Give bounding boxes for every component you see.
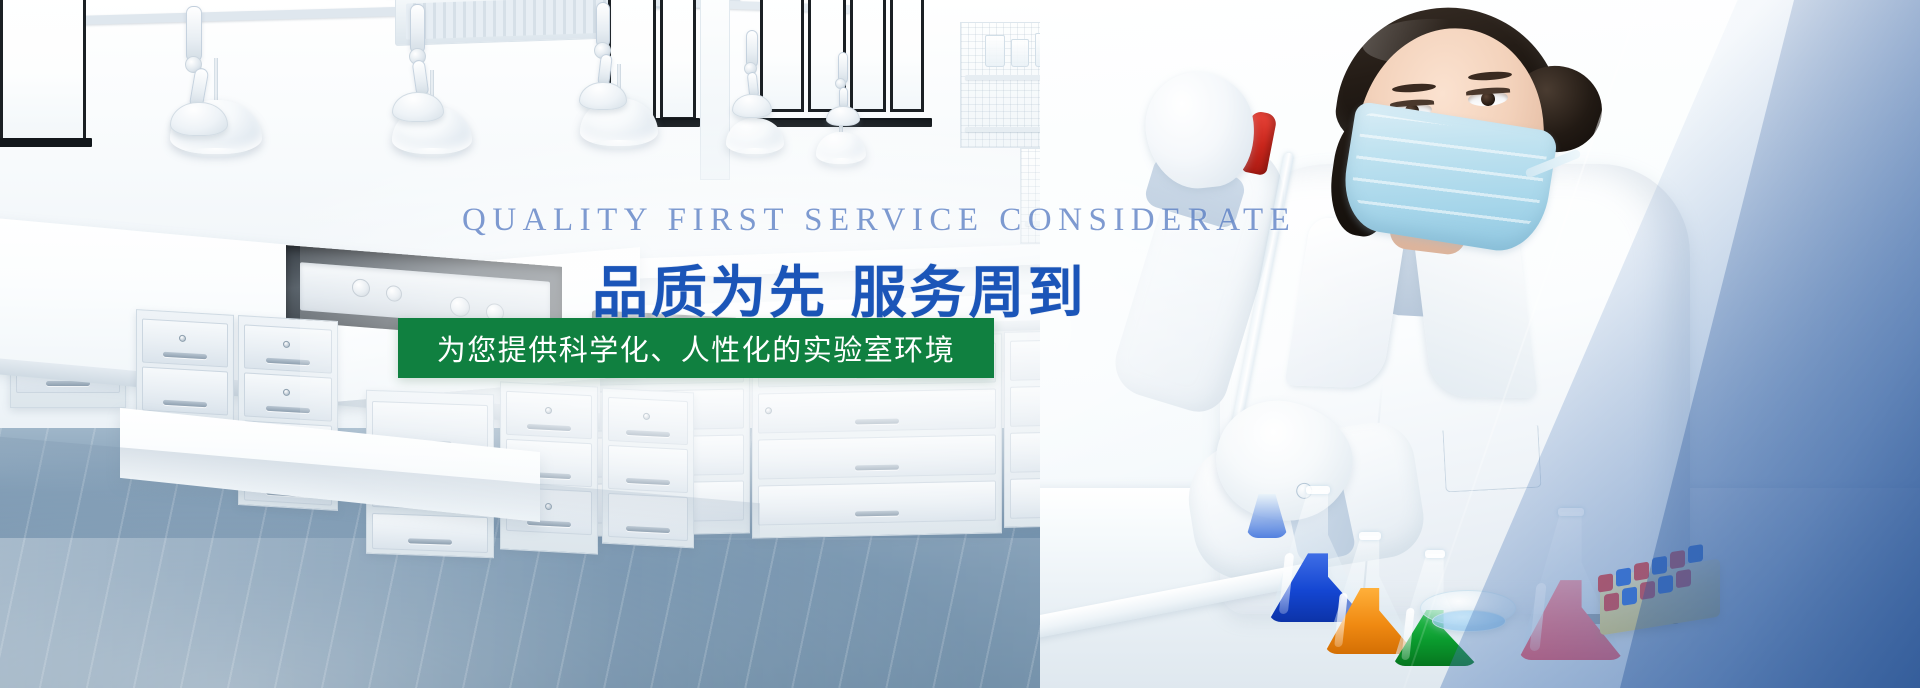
banner-subtitle-bar: 为您提供科学化、人性化的实验室环境: [398, 318, 994, 378]
extraction-arm-3: [596, 2, 706, 108]
banner-subtitle-text: 为您提供科学化、人性化的实验室环境: [437, 327, 956, 369]
hero-banner: QUALITY FIRST SERVICE CONSIDERATE 品质为先 服…: [0, 0, 1920, 688]
extraction-arm-2: [410, 4, 530, 116]
floor-reflection: [0, 538, 1130, 688]
banner-eyebrow-english: QUALITY FIRST SERVICE CONSIDERATE: [462, 202, 1296, 239]
extraction-arm-1: [186, 6, 306, 126]
petri-dish-liquid: [1432, 610, 1506, 632]
technician-photo: [1040, 0, 1920, 688]
extraction-arm-5: [838, 52, 918, 132]
extraction-arm-4: [746, 30, 836, 120]
coat-pocket: [1442, 426, 1541, 493]
banner-headline: 品质为先 服务周到: [592, 248, 1087, 329]
